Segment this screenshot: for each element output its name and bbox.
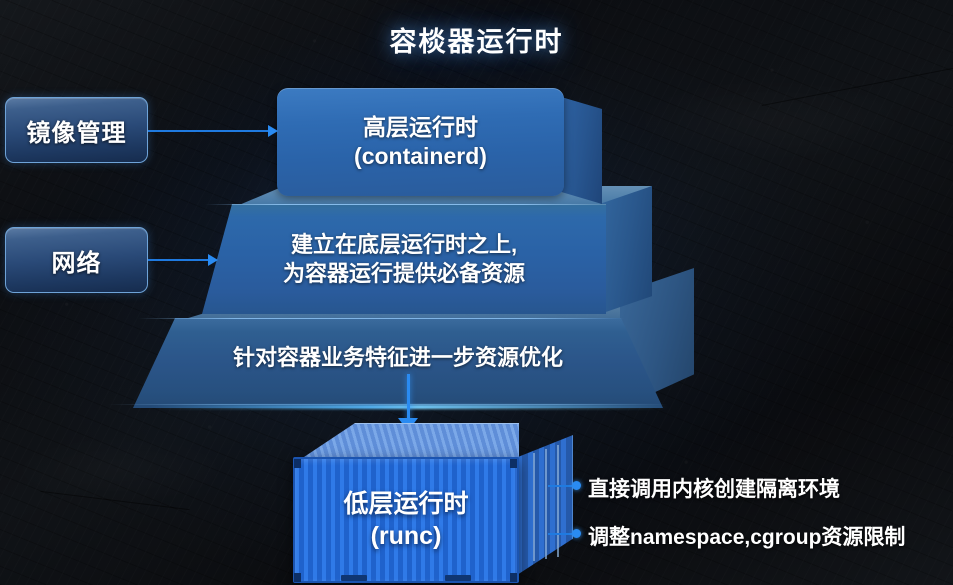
container-door-bar: [557, 445, 559, 557]
bullet-dot-icon: [572, 481, 581, 490]
pyramid-top-side-face: [558, 96, 602, 204]
container-front-face: 低层运行时 (runc): [293, 457, 519, 583]
container-label-line: (runc): [371, 520, 442, 553]
container-corner-fitting: [294, 459, 301, 468]
connector-line-image-management: [148, 130, 270, 132]
pyramid-layer-text: 建立在底层运行时之上,: [291, 230, 517, 259]
side-box-image-management[interactable]: 镜像管理: [5, 97, 148, 163]
pyramid-layer-text: (containerd): [354, 142, 487, 171]
connector-line-network: [148, 259, 210, 261]
container-door-bar: [545, 449, 547, 559]
pyramid-layer-text: 针对容器业务特征进一步资源优化: [233, 340, 563, 372]
pyramid-layer-middle-runtime[interactable]: 建立在底层运行时之上, 为容器运行提供必备资源: [202, 204, 606, 314]
arrow-head-icon: [208, 254, 218, 266]
pyramid-middle-side-face: [600, 186, 652, 314]
annotation-text: 直接调用内核创建隔离环境: [588, 473, 840, 503]
shipping-container-illustration[interactable]: 低层运行时 (runc): [283, 423, 573, 583]
annotation-text: 调整namespace,cgroup资源限制: [588, 521, 905, 551]
container-foot: [341, 575, 367, 581]
pyramid-layer-text: 高层运行时: [363, 113, 478, 142]
container-foot: [445, 575, 471, 581]
container-door-bar: [533, 453, 535, 561]
pyramid-layer-high-level-runtime[interactable]: 高层运行时 (containerd): [277, 88, 564, 196]
side-box-network[interactable]: 网络: [5, 227, 148, 293]
bullet-dot-icon: [572, 529, 581, 538]
container-top-face: [301, 423, 519, 459]
down-arrow-line: [407, 374, 410, 424]
container-corner-fitting: [510, 459, 517, 468]
pyramid-layer-text: 为容器运行提供必备资源: [283, 259, 525, 288]
container-corner-fitting: [294, 573, 301, 582]
slide-canvas: 容棪器运行时 镜像管理 网络 针对容器业务特征进一步资源优化 建立在底层运行时之…: [0, 0, 953, 585]
container-label-line: 低层运行时: [343, 488, 468, 521]
pyramid-layer-resource-optimization[interactable]: 针对容器业务特征进一步资源优化: [133, 318, 663, 408]
container-corner-fitting: [510, 573, 517, 582]
page-title: 容棪器运行时: [0, 20, 953, 59]
side-box-label: 网络: [52, 243, 102, 278]
arrow-head-icon: [268, 125, 278, 137]
side-box-label: 镜像管理: [27, 113, 127, 148]
